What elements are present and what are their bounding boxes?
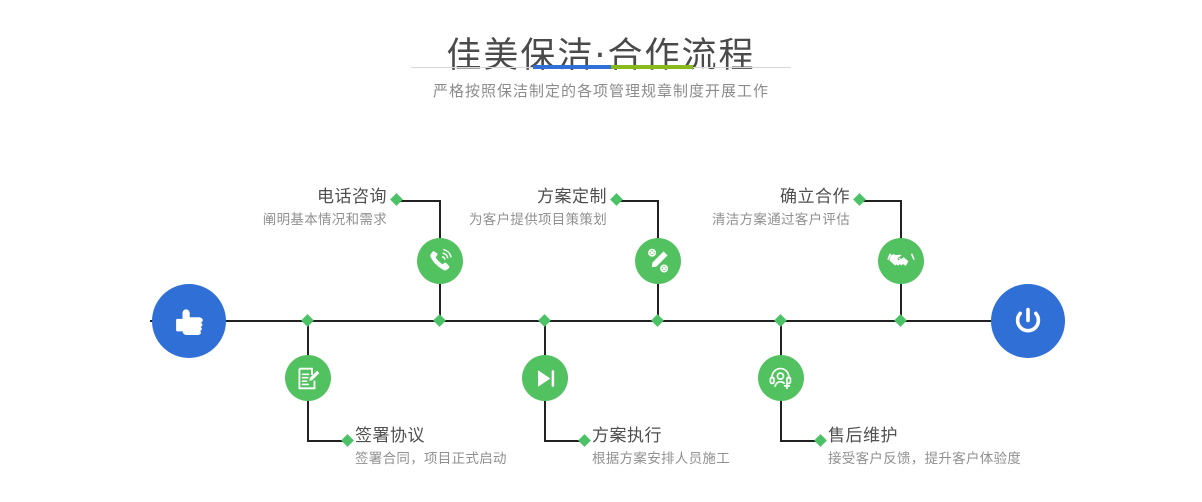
flow-start-node[interactable]: [152, 284, 226, 358]
step-desc: 阐明基本情况和需求: [172, 209, 387, 231]
branch-marker-down-1: [341, 434, 354, 447]
process-flow: 电话咨询 阐明基本情况和需求 方案定制 为客户提供项目策策划: [0, 0, 1202, 502]
power-icon: [1007, 300, 1049, 342]
pointing-hand-icon: [169, 301, 209, 341]
step-title: 方案定制: [392, 185, 607, 209]
spine-marker-down-1: [301, 314, 314, 327]
step-node-establish-cooperation[interactable]: [878, 238, 924, 284]
phone-call-icon: [426, 247, 454, 275]
flow-end-node[interactable]: [991, 284, 1065, 358]
timeline-spine: [150, 320, 1055, 322]
step-desc: 接受客户反馈，提升客户体验度: [828, 448, 1088, 470]
step-node-phone-consult[interactable]: [417, 238, 463, 284]
step-desc: 清洁方案通过客户评估: [630, 209, 850, 231]
spine-marker-down-3: [774, 314, 787, 327]
step-node-plan-execution[interactable]: [522, 355, 568, 401]
document-edit-icon: [295, 365, 322, 392]
branch-connector-up-3: [860, 200, 902, 202]
step-title: 电话咨询: [172, 185, 387, 209]
play-next-icon: [532, 365, 559, 392]
step-label-plan-customization: 方案定制 为客户提供项目策策划: [392, 185, 607, 231]
spine-marker-down-2: [538, 314, 551, 327]
step-label-plan-execution: 方案执行 根据方案安排人员施工: [592, 424, 832, 470]
spine-marker-up-1: [433, 314, 446, 327]
step-node-after-sales[interactable]: [758, 355, 804, 401]
step-desc: 为客户提供项目策策划: [392, 209, 607, 231]
step-desc: 根据方案安排人员施工: [592, 448, 832, 470]
step-label-after-sales: 售后维护 接受客户反馈，提升客户体验度: [828, 424, 1088, 470]
support-headset-icon: [768, 365, 794, 391]
step-label-sign-agreement: 签署协议 签署合同，项目正式启动: [355, 424, 595, 470]
step-label-phone-consult: 电话咨询 阐明基本情况和需求: [172, 185, 387, 231]
spine-marker-up-3: [894, 314, 907, 327]
spine-marker-up-2: [651, 314, 664, 327]
step-title: 售后维护: [828, 424, 1088, 448]
step-node-plan-customization[interactable]: [635, 238, 681, 284]
step-title: 确立合作: [630, 185, 850, 209]
cooperation-process-infographic: 佳美保洁·合作流程 严格按照保洁制定的各项管理规章制度开展工作: [0, 0, 1202, 502]
step-title: 方案执行: [592, 424, 832, 448]
step-label-establish-cooperation: 确立合作 清洁方案通过客户评估: [630, 185, 850, 231]
step-title: 签署协议: [355, 424, 595, 448]
step-node-sign-agreement[interactable]: [285, 355, 331, 401]
branch-marker-up-2: [610, 193, 623, 206]
branch-marker-up-3: [853, 193, 866, 206]
pencil-design-icon: [644, 247, 672, 275]
handshake-icon: [887, 247, 915, 275]
step-desc: 签署合同，项目正式启动: [355, 448, 595, 470]
